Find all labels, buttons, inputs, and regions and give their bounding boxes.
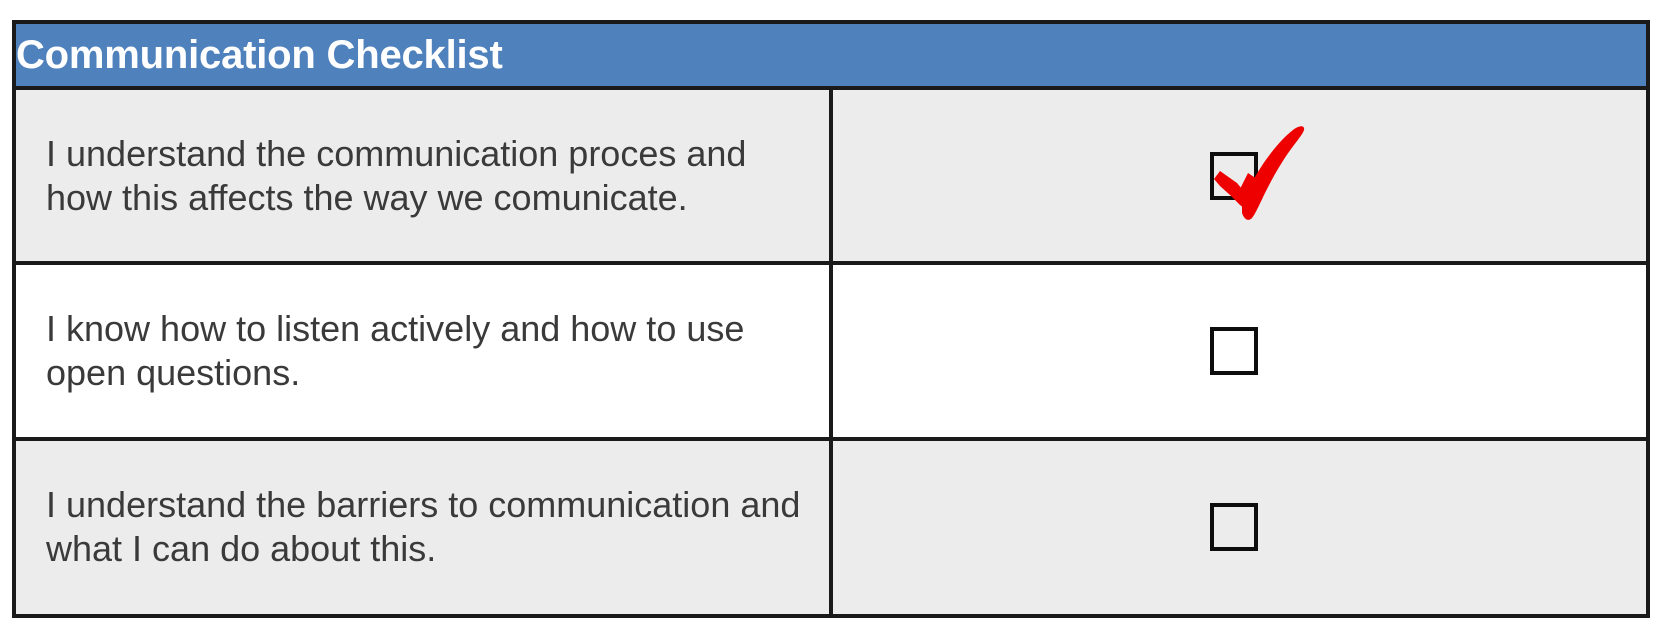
- checklist-table-body: I understand the communication proces an…: [16, 88, 1646, 614]
- communication-checklist-table: Communication Checklist I understand the…: [12, 20, 1650, 618]
- checkbox-wrapper[interactable]: [1180, 121, 1300, 231]
- checklist-table-head: Communication Checklist: [16, 24, 1646, 88]
- statement-cell: I understand the barriers to communicati…: [16, 439, 831, 614]
- statement-cell: I understand the communication proces an…: [16, 88, 831, 263]
- checklist-header-cell: Communication Checklist: [16, 24, 1646, 88]
- checkbox-input[interactable]: [1210, 503, 1258, 551]
- checkbox-wrapper[interactable]: [1180, 472, 1300, 582]
- checkbox-input[interactable]: [1210, 152, 1258, 200]
- statement-text: I understand the communication proces an…: [46, 132, 801, 220]
- checklist-table: Communication Checklist I understand the…: [16, 24, 1646, 614]
- checkbox-cell[interactable]: [831, 263, 1646, 438]
- checkbox-cell[interactable]: [831, 439, 1646, 614]
- page-title: Communication Checklist: [16, 35, 1646, 75]
- checkbox-input[interactable]: [1210, 327, 1258, 375]
- table-row: I understand the communication proces an…: [16, 88, 1646, 263]
- statement-cell: I know how to listen actively and how to…: [16, 263, 831, 438]
- checkbox-cell[interactable]: [831, 88, 1646, 263]
- checklist-header-row: Communication Checklist: [16, 24, 1646, 88]
- table-row: I know how to listen actively and how to…: [16, 263, 1646, 438]
- table-row: I understand the barriers to communicati…: [16, 439, 1646, 614]
- checkbox-wrapper[interactable]: [1180, 296, 1300, 406]
- statement-text: I understand the barriers to communicati…: [46, 483, 801, 571]
- statement-text: I know how to listen actively and how to…: [46, 307, 801, 395]
